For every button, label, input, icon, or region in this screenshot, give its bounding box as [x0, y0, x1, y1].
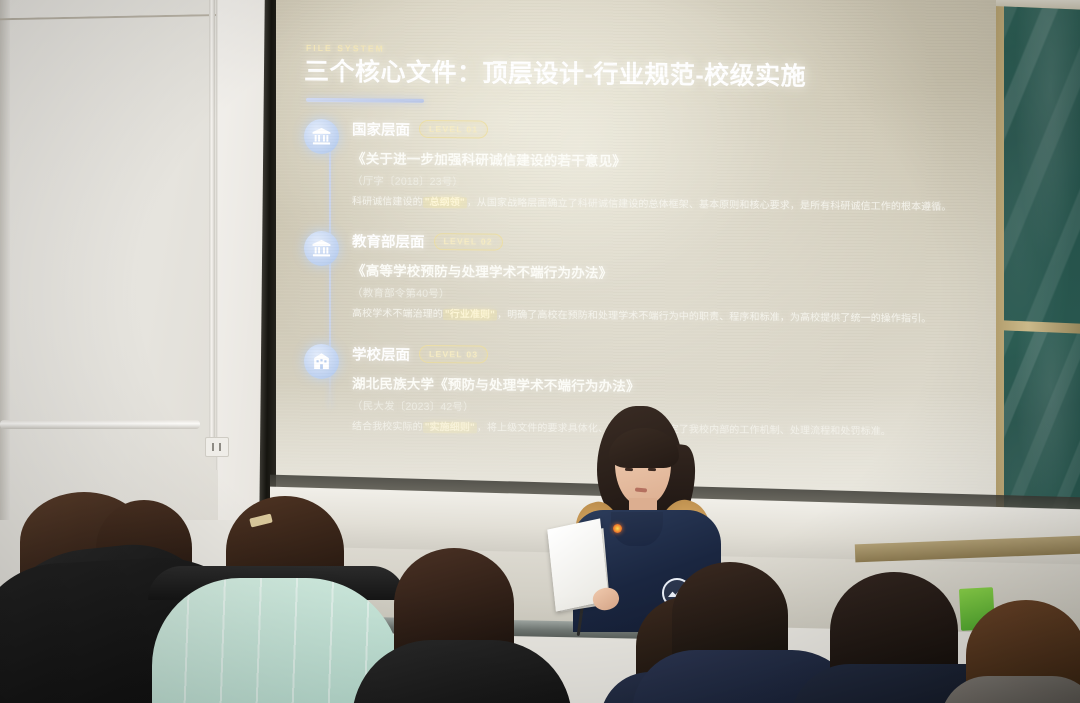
level-badge: LEVEL 03 — [419, 345, 488, 363]
slide-kicker: FILE SYSTEM — [306, 43, 984, 60]
green-chalkboard — [996, 0, 1080, 562]
level-name: 教育部层面 — [352, 230, 425, 252]
chalk-smudges — [1004, 6, 1080, 323]
desc-highlight: "行业准则" — [443, 309, 497, 321]
vertical-conduit — [209, 0, 215, 440]
document-title: 《高等学校预防与处理学术不端行为办法》 — [352, 259, 984, 285]
desc-before: 科研诚信建设的 — [352, 196, 423, 208]
presenter-eye-left — [625, 468, 633, 472]
wall-shadow-edge — [0, 0, 10, 520]
desc-after: ，明确了高校在预防和处理学术不端行为中的职责、程序和标准，为高校提供了统一的操作… — [497, 310, 931, 325]
document-description: 科研诚信建设的"总纲领"，从国家战略层面确立了科研诚信建设的总体框架、基本原则和… — [352, 195, 984, 215]
presenter-eye-right — [648, 468, 656, 472]
desc-before: 结合我校实际的 — [352, 421, 423, 433]
level-badge: LEVEL 01 — [419, 120, 488, 138]
school-building-icon — [304, 343, 339, 378]
level-name: 国家层面 — [352, 118, 410, 140]
desc-before: 高校学术不端治理的 — [352, 308, 443, 320]
classroom-photo: FILE SYSTEM 三个核心文件：顶层设计-行业规范-校级实施 — [0, 0, 1080, 703]
desc-after: ，从国家战略层面确立了科研诚信建设的总体框架、基本原则和核心要求，是所有科研诚信… — [467, 197, 952, 213]
document-code: （厅字〔2018〕23号） — [352, 173, 984, 194]
bank-building-icon — [304, 118, 339, 153]
levels-timeline: 国家层面 LEVEL 01 《关于进一步加强科研诚信建设的若干意见》 （厅字〔2… — [304, 117, 984, 439]
slide-title: 三个核心文件：顶层设计-行业规范-校级实施 — [304, 59, 984, 93]
level-head: 学校层面 LEVEL 03 — [352, 343, 984, 370]
desc-highlight: "总纲领" — [423, 196, 467, 207]
document-code: （教育部令第40号） — [352, 285, 984, 306]
power-outlet — [205, 437, 229, 457]
title-underline — [306, 97, 424, 102]
level-head: 教育部层面 LEVEL 02 — [352, 230, 984, 257]
level-body: 国家层面 LEVEL 01 《关于进一步加强科研诚信建设的若干意见》 （厅字〔2… — [352, 118, 984, 215]
document-title: 湖北民族大学《预防与处理学术不端行为办法》 — [352, 372, 984, 398]
horizontal-conduit — [0, 420, 200, 429]
level-name: 学校层面 — [352, 343, 410, 365]
desc-highlight: "实施细则" — [423, 421, 477, 433]
level-badge: LEVEL 02 — [434, 233, 503, 251]
bank-building-icon — [304, 231, 339, 266]
document-title: 《关于进一步加强科研诚信建设的若干意见》 — [352, 147, 984, 173]
document-description: 高校学术不端治理的"行业准则"，明确了高校在预防和处理学术不端行为中的职责、程序… — [352, 307, 984, 327]
level-body: 教育部层面 LEVEL 02 《高等学校预防与处理学术不端行为办法》 （教育部令… — [352, 230, 984, 327]
level-item-national: 国家层面 LEVEL 01 《关于进一步加强科研诚信建设的若干意见》 （厅字〔2… — [304, 117, 984, 214]
chalkboard-panel-upper — [1004, 6, 1080, 323]
level-item-ministry: 教育部层面 LEVEL 02 《高等学校预防与处理学术不端行为办法》 （教育部令… — [304, 230, 984, 327]
level-head: 国家层面 LEVEL 01 — [352, 118, 984, 145]
flame-pin-icon — [613, 524, 622, 533]
